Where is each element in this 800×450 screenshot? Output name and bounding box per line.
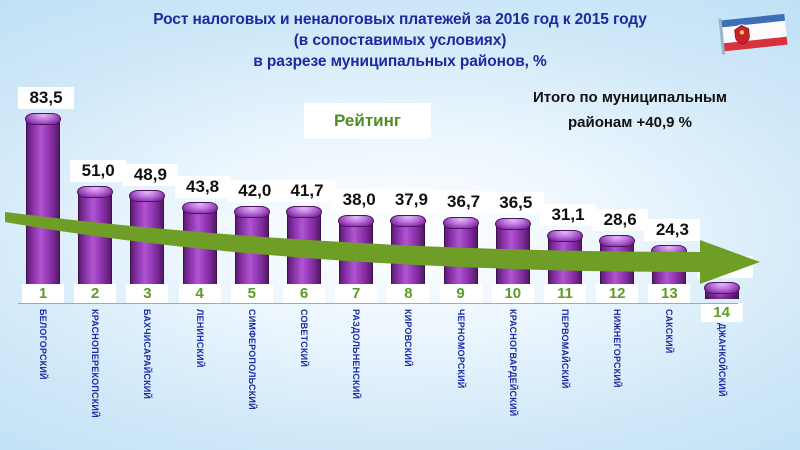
bar-category-label-6: СОВЕТСКИЙ xyxy=(299,309,309,367)
bar-value-label-11: 31,1 xyxy=(540,204,596,226)
bar-category-label-9: ЧЕРНОМОРСКИЙ xyxy=(456,309,466,388)
bar-rank-label-2: 2 xyxy=(74,284,116,303)
bar-rank-label-6: 6 xyxy=(283,284,325,303)
bar-rank-label-13: 13 xyxy=(648,284,690,303)
bar-1[interactable] xyxy=(26,113,60,299)
bar-rank-label-11: 11 xyxy=(544,284,586,303)
bar-rank-label-3: 3 xyxy=(126,284,168,303)
bar-value-label-2: 51,0 xyxy=(70,160,126,182)
bar-category-label-3: БАХЧИСАРАЙСКИЙ xyxy=(142,309,152,399)
bar-body xyxy=(78,192,112,299)
bar-rank-label-9: 9 xyxy=(440,284,482,303)
bar-value-label-7: 38,0 xyxy=(331,189,387,211)
category-axis-line xyxy=(18,303,738,304)
bar-value-label-8: 37,9 xyxy=(383,189,439,211)
bar-value-label-14: 7,7 xyxy=(697,256,753,278)
bar-top-cap xyxy=(25,113,61,125)
bar-value-label-9: 36,7 xyxy=(436,191,492,213)
bar-category-label-10: КРАСНОГВАРДЕЙСКИЙ xyxy=(508,309,518,416)
bar-top-cap xyxy=(234,206,270,218)
bar-category-label-4: ЛЕНИНСКИЙ xyxy=(195,309,205,368)
bar-value-label-13: 24,3 xyxy=(644,219,700,241)
bar-rank-label-1: 1 xyxy=(22,284,64,303)
bar-top-cap xyxy=(651,245,687,257)
bar-rank-label-12: 12 xyxy=(596,284,638,303)
bar-category-label-7: РАЗДОЛЬНЕНСКИЙ xyxy=(351,309,361,399)
bar-value-label-6: 41,7 xyxy=(279,180,335,202)
bar-top-cap xyxy=(338,215,374,227)
bar-category-label-1: БЕЛОГОРСКИЙ xyxy=(38,309,48,380)
bar-3[interactable] xyxy=(130,190,164,299)
bar-category-label-12: НИЖНЕГОРСКИЙ xyxy=(612,309,622,388)
bar-chart-plot: 83,51БЕЛОГОРСКИЙ51,02КРАСНОПЕРЕКОПСКИЙ48… xyxy=(0,0,800,450)
bar-value-label-5: 42,0 xyxy=(227,180,283,202)
bar-category-label-14: ДЖАНКОЙСКИЙ xyxy=(717,323,727,397)
bar-category-label-8: КИРОВСКИЙ xyxy=(403,309,413,367)
bar-top-cap xyxy=(495,218,531,230)
bar-rank-label-8: 8 xyxy=(387,284,429,303)
bar-top-cap xyxy=(599,235,635,247)
bar-category-label-2: КРАСНОПЕРЕКОПСКИЙ xyxy=(90,309,100,418)
bar-category-label-11: ПЕРВОМАЙСКИЙ xyxy=(560,309,570,389)
bar-2[interactable] xyxy=(78,186,112,299)
bar-rank-label-14: 14 xyxy=(701,303,743,322)
bar-category-label-13: САКСКИЙ xyxy=(664,309,674,353)
bar-rank-label-7: 7 xyxy=(335,284,377,303)
bar-value-label-4: 43,8 xyxy=(175,176,231,198)
bar-top-cap xyxy=(77,186,113,198)
bar-body xyxy=(26,119,60,299)
bar-value-label-12: 28,6 xyxy=(592,209,648,231)
bar-rank-label-10: 10 xyxy=(492,284,534,303)
bar-value-label-3: 48,9 xyxy=(122,164,178,186)
bar-top-cap xyxy=(129,190,165,202)
bar-top-cap xyxy=(547,230,583,242)
bar-value-label-1: 83,5 xyxy=(18,87,74,109)
bar-rank-label-4: 4 xyxy=(179,284,221,303)
bar-top-cap xyxy=(286,206,322,218)
bar-top-cap xyxy=(443,217,479,229)
bar-rank-label-5: 5 xyxy=(231,284,273,303)
bar-14[interactable] xyxy=(705,282,739,299)
bar-top-cap xyxy=(704,282,740,294)
bar-category-label-5: СИМФЕРОПОЛЬСКИЙ xyxy=(247,309,257,410)
bar-value-label-10: 36,5 xyxy=(488,192,544,214)
bar-top-cap xyxy=(182,202,218,214)
bar-top-cap xyxy=(390,215,426,227)
